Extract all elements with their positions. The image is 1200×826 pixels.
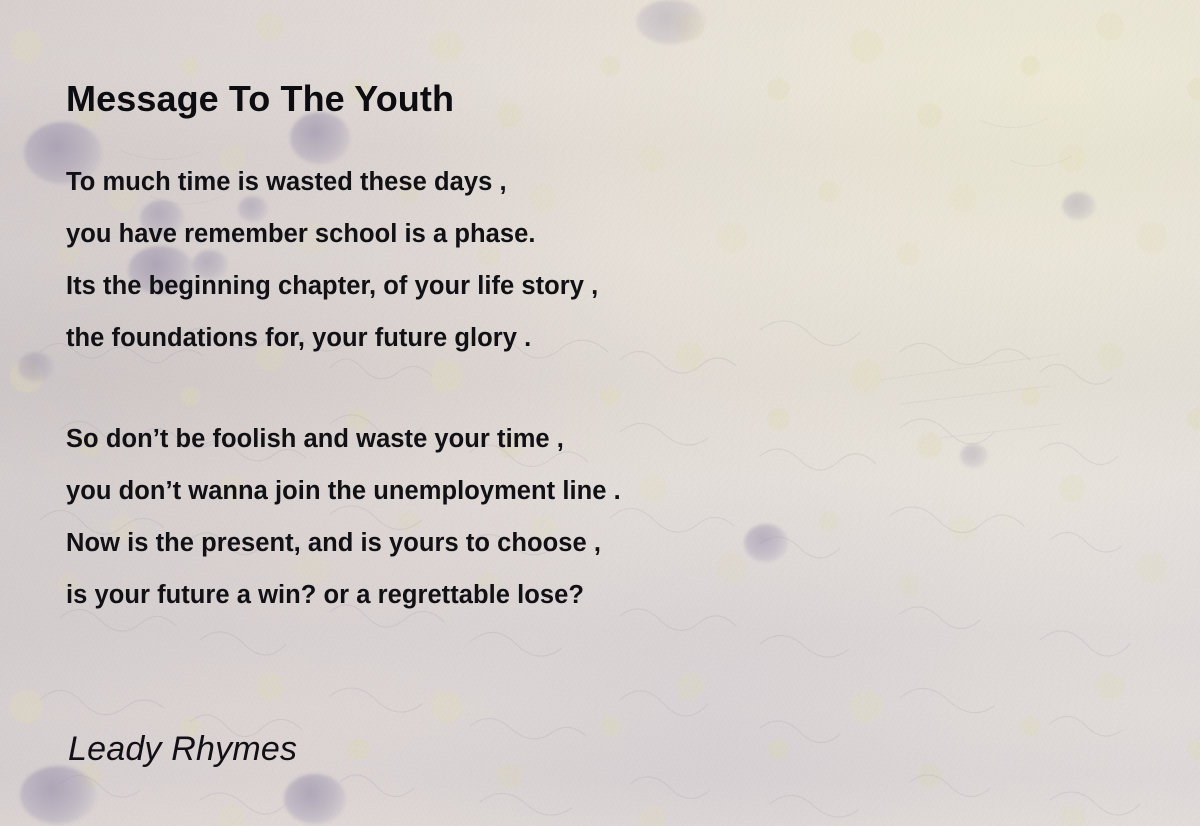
poem-line: is your future a win? or a regrettable l… — [66, 569, 621, 621]
poem-line: Its the beginning chapter, of your life … — [66, 260, 598, 312]
poem-line: So don’t be foolish and waste your time … — [66, 413, 621, 465]
page-title: Message To The Youth — [66, 78, 454, 120]
poem-text-container: Message To The Youth To much time is was… — [0, 0, 1200, 826]
poem-stanza: So don’t be foolish and waste your time … — [66, 413, 621, 621]
poem-line: you have remember school is a phase. — [66, 208, 598, 260]
poem-line: Now is the present, and is yours to choo… — [66, 517, 621, 569]
poem-line: you don’t wanna join the unemployment li… — [66, 465, 621, 517]
poem-line: To much time is wasted these days , — [66, 156, 598, 208]
poem-line: the foundations for, your future glory . — [66, 312, 598, 364]
author-signature: Leady Rhymes — [68, 730, 297, 769]
poem-card: Message To The Youth To much time is was… — [0, 0, 1200, 826]
poem-stanza: To much time is wasted these days , you … — [66, 156, 598, 364]
